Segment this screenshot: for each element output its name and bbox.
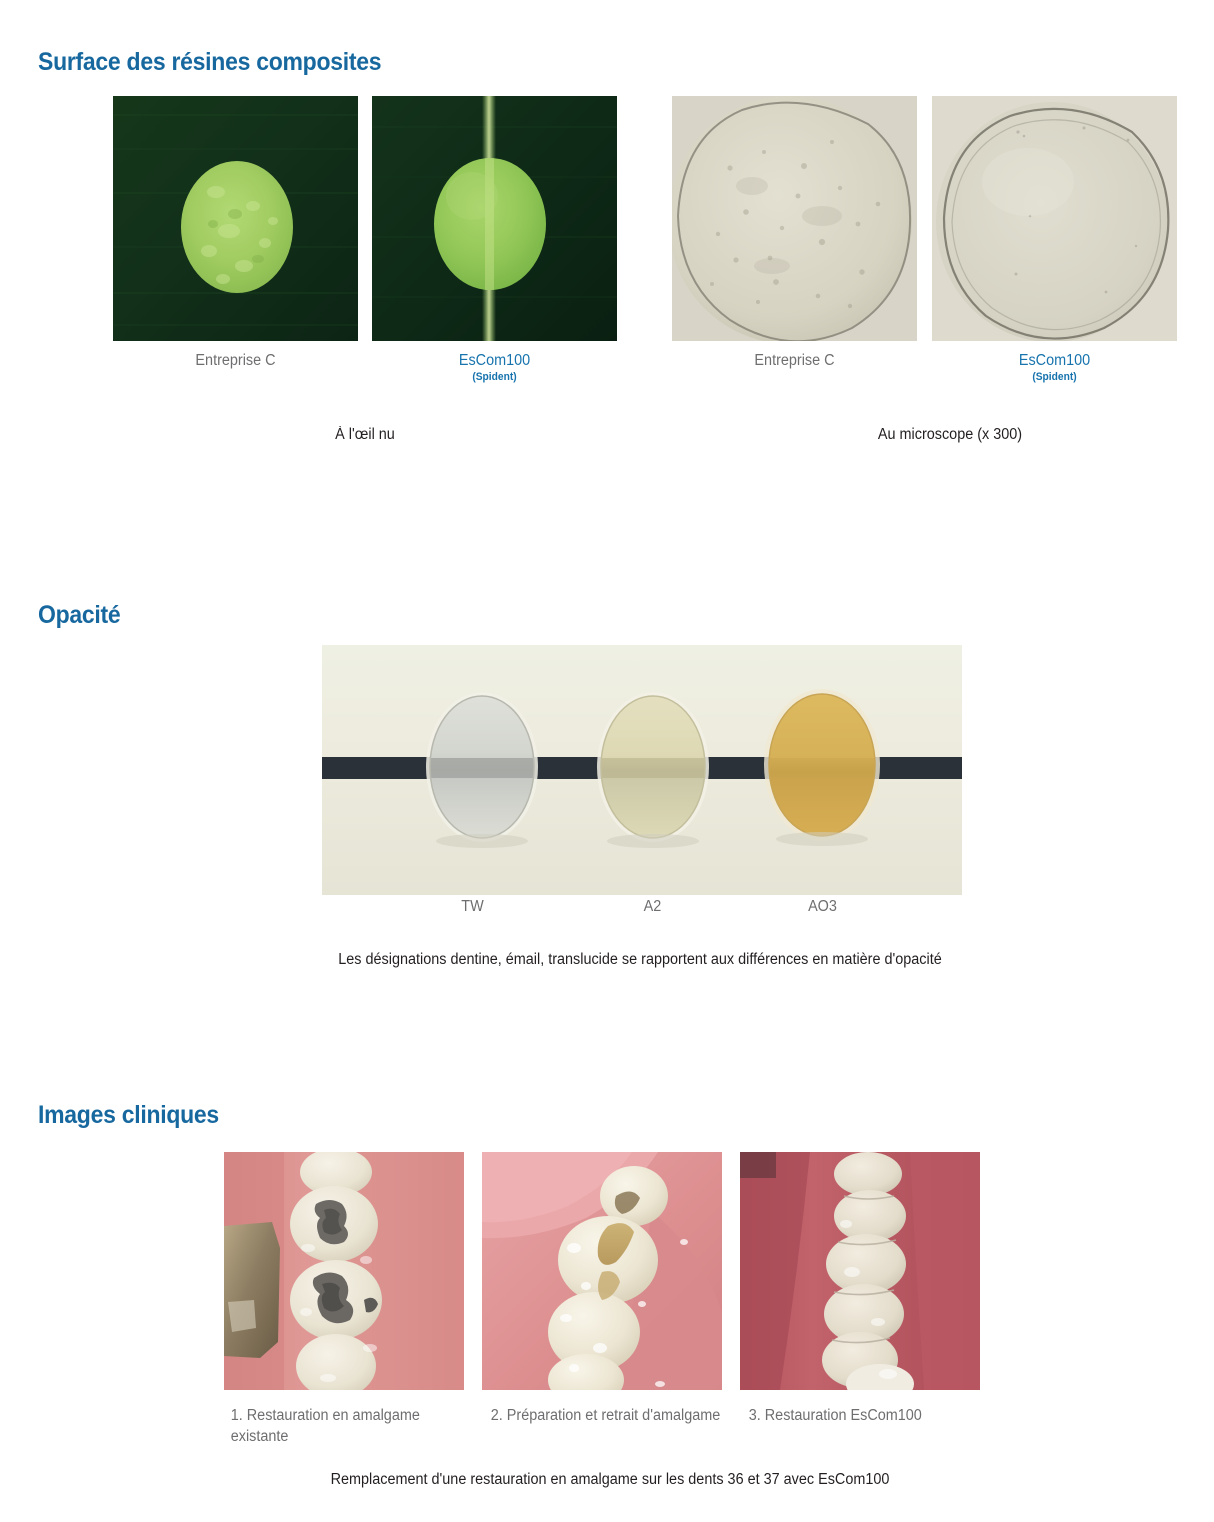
label-naked-eye-competitor: Entreprise C bbox=[122, 352, 350, 370]
group-caption-microscope: Au microscope (x 300) bbox=[829, 426, 1071, 444]
label-naked-eye-escom: EsCom100 (Spident) bbox=[381, 352, 609, 383]
photo-microscope-competitor bbox=[672, 96, 917, 341]
shade-label-a2: A2 bbox=[585, 898, 720, 916]
clinical-footer-caption: Remplacement d'une restauration en amalg… bbox=[275, 1471, 945, 1489]
photo-naked-eye-competitor bbox=[113, 96, 358, 341]
label-naked-eye-escom-main: EsCom100 bbox=[381, 352, 609, 370]
shade-label-ao3: AO3 bbox=[755, 898, 890, 916]
caption-clinical-step-2: 2. Préparation et retrait d'amalgame bbox=[491, 1406, 724, 1427]
label-naked-eye-escom-sub: (Spident) bbox=[381, 371, 609, 383]
section-heading-opacite: Opacité bbox=[38, 601, 120, 630]
group-caption-naked-eye: À l'œil nu bbox=[249, 426, 482, 444]
caption-clinical-step-3: 3. Restauration EsCom100 bbox=[749, 1406, 982, 1427]
label-microscope-escom: EsCom100 (Spident) bbox=[941, 352, 1169, 383]
photo-clinical-step-3 bbox=[740, 1152, 980, 1390]
caption-clinical-step-1: 1. Restauration en amalgame existante bbox=[231, 1406, 464, 1448]
opacity-note: Les désignations dentine, émail, translu… bbox=[277, 951, 1002, 969]
label-microscope-escom-sub: (Spident) bbox=[941, 371, 1169, 383]
photo-clinical-step-2 bbox=[482, 1152, 722, 1390]
label-microscope-escom-main: EsCom100 bbox=[941, 352, 1169, 370]
label-microscope-competitor: Entreprise C bbox=[681, 352, 909, 370]
photo-microscope-escom bbox=[932, 96, 1177, 341]
section-heading-surface: Surface des résines composites bbox=[38, 48, 381, 77]
brochure-page: Surface des résines composites bbox=[0, 0, 1214, 1522]
photo-clinical-step-1 bbox=[224, 1152, 464, 1390]
photo-naked-eye-escom bbox=[372, 96, 617, 341]
photo-opacity-strip bbox=[322, 645, 962, 895]
section-heading-images-cliniques: Images cliniques bbox=[38, 1101, 219, 1130]
shade-label-tw: TW bbox=[405, 898, 540, 916]
